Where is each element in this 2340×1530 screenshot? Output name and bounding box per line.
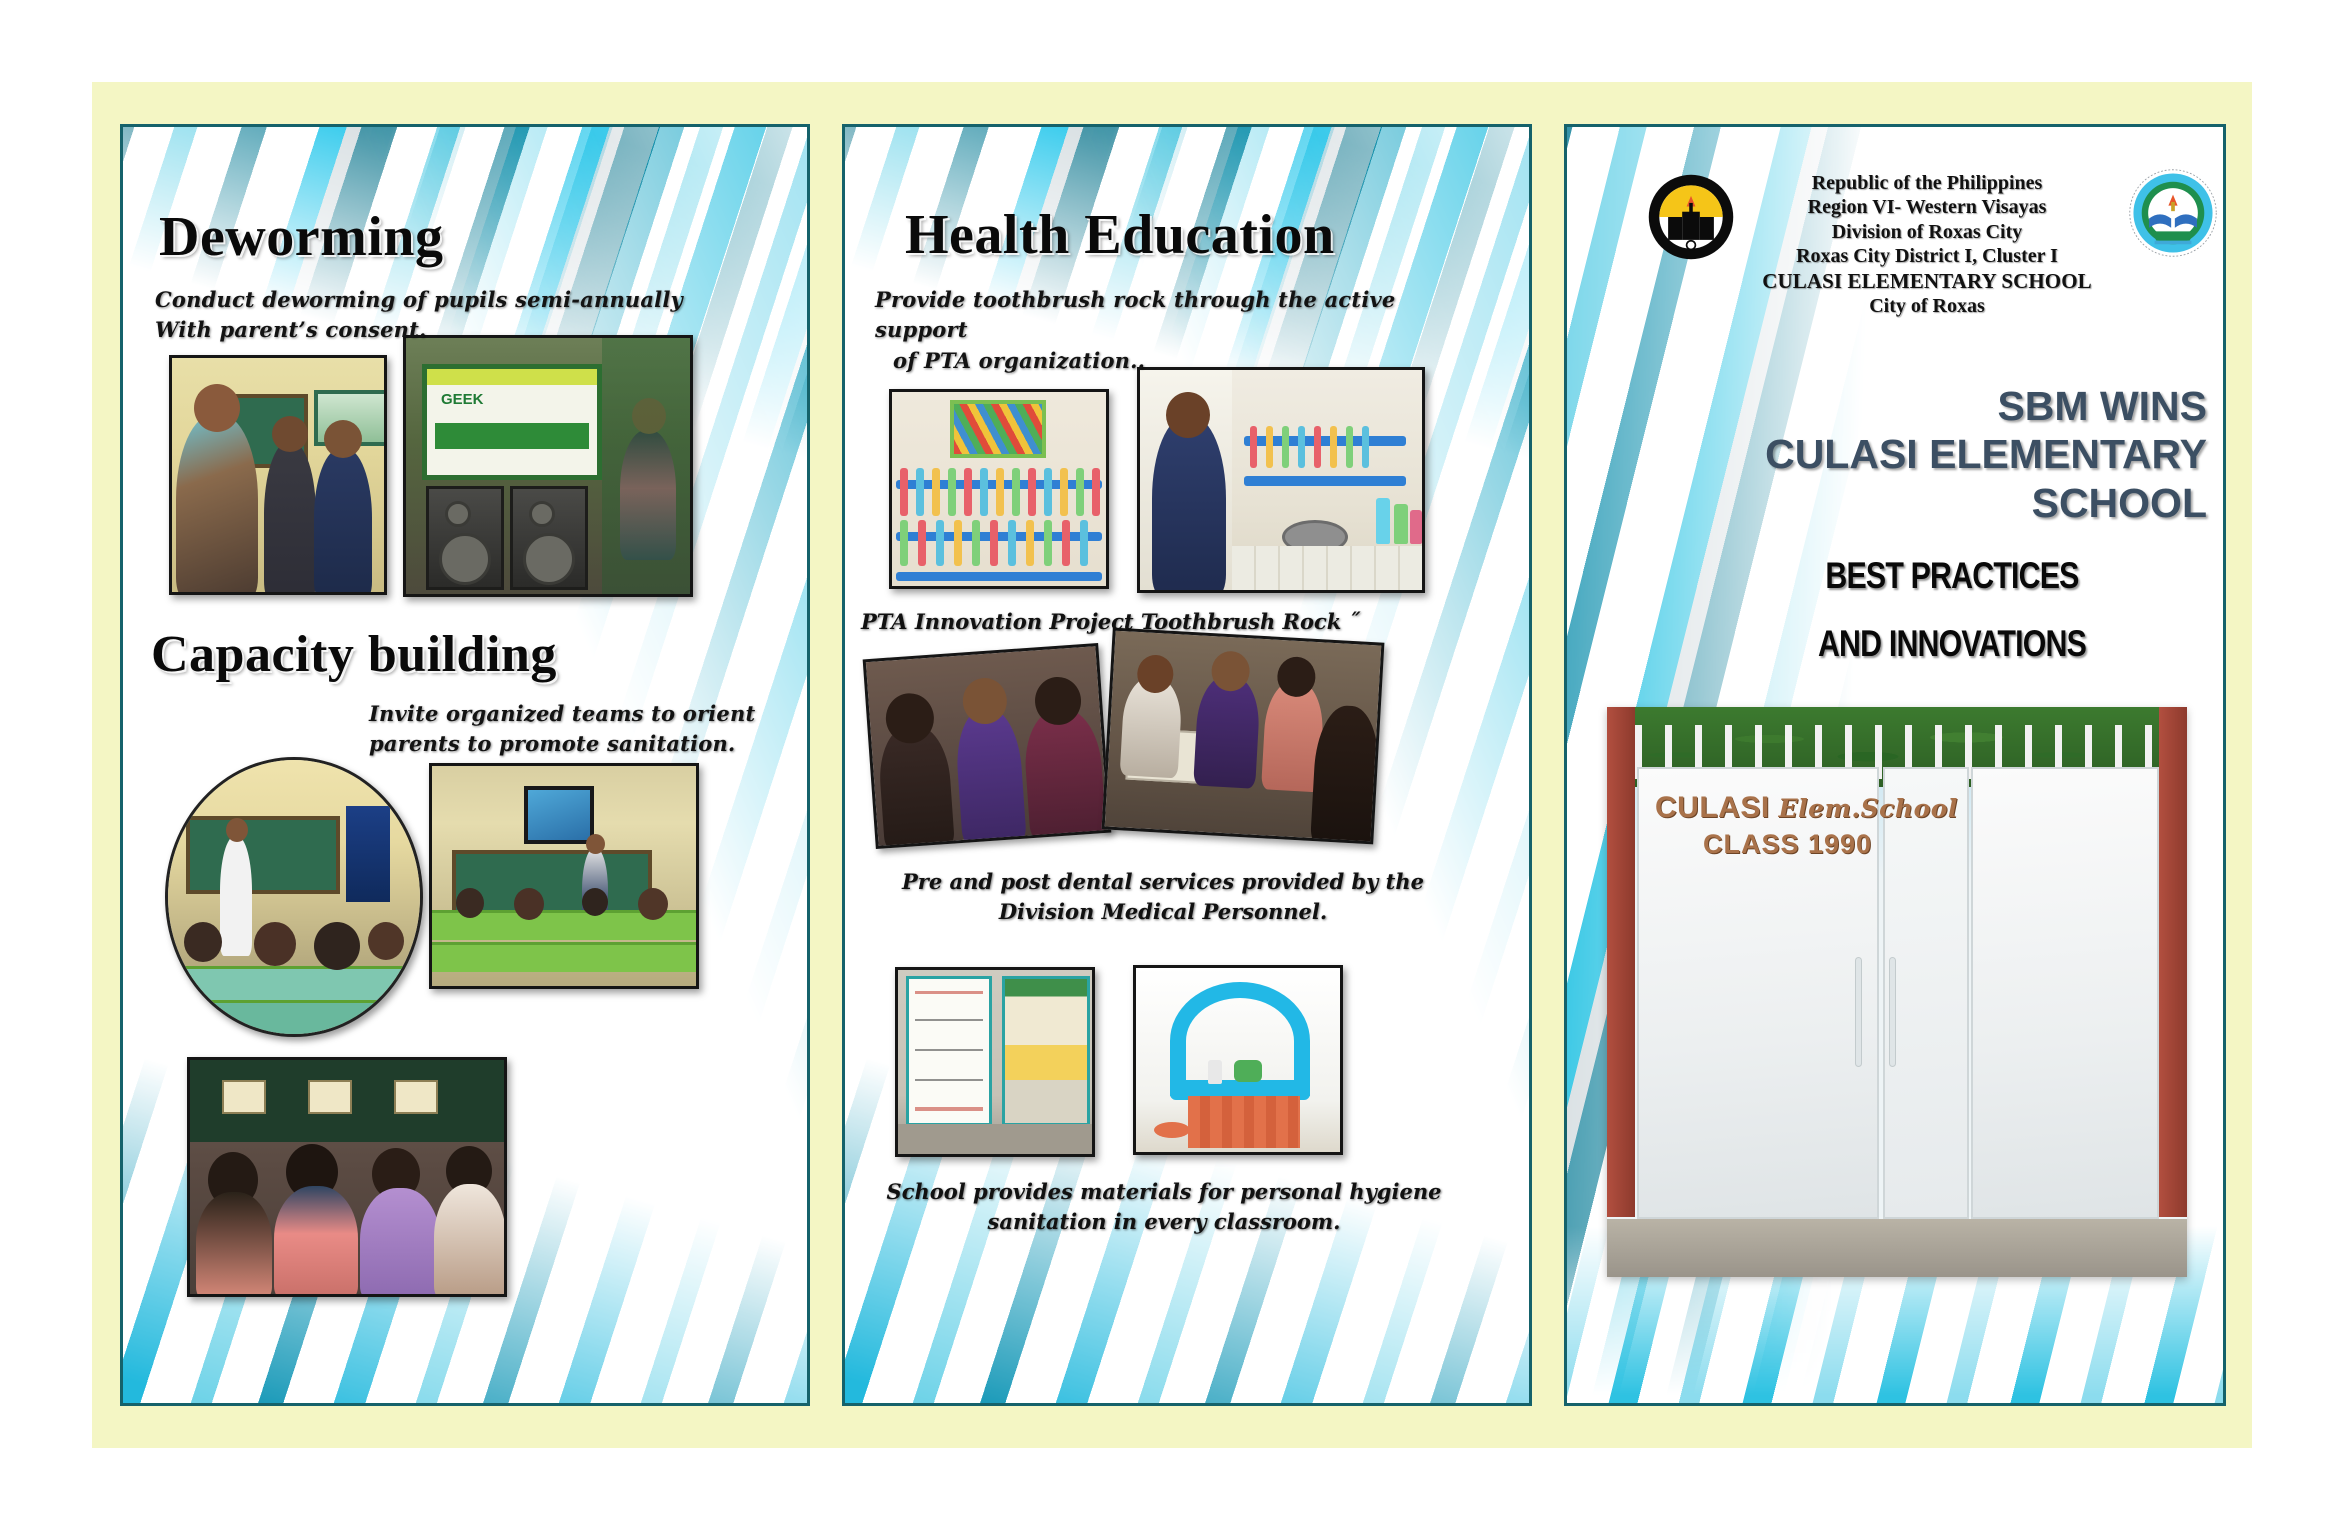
- cover-subtitle: BEST PRACTICES AND INNOVATIONS: [1759, 542, 2144, 679]
- cover-subtitle-line-1: BEST PRACTICES: [1759, 542, 2144, 610]
- photo-capacity-classroom-tv: [429, 763, 699, 989]
- header-line-4: Roxas City District I, Cluster I: [1743, 244, 2111, 268]
- photo-dental-checkup-b: [1102, 628, 1385, 845]
- division-of-roxas-city-seal: [2127, 167, 2215, 255]
- photo-school-gate: CULASI Elem.School CLASS 1990: [1607, 707, 2187, 1277]
- panel-health-education: Health Education Provide toothbrush rock…: [842, 124, 1532, 1406]
- text-deworming-body: Conduct deworming of pupils semi-annuall…: [155, 285, 755, 346]
- caption-toothbrush-rock: PTA Innovation Project Toothbrush Rock ˝: [861, 607, 1461, 637]
- caption-hygiene-materials: School provides materials for personal h…: [859, 1177, 1469, 1238]
- cover-title-line-2: CULASI ELEMENTARY: [1747, 430, 2207, 478]
- cover-title-line-1: SBM WINS: [1747, 382, 2207, 430]
- brochure-page: Deworming Conduct deworming of pupils se…: [92, 82, 2252, 1448]
- caption-dental-services: Pre and post dental services provided by…: [863, 867, 1463, 928]
- header-line-6: City of Roxas: [1743, 294, 2111, 318]
- cover-subtitle-line-2: AND INNOVATIONS: [1759, 610, 2144, 678]
- photo-washing-area: [1137, 367, 1425, 593]
- heading-deworming: Deworming: [159, 205, 443, 269]
- gate-sign-line-1: CULASI Elem.School: [1655, 791, 1958, 825]
- photo-handwash-station: [1133, 965, 1343, 1155]
- panel-deworming: Deworming Conduct deworming of pupils se…: [120, 124, 810, 1406]
- header-line-2: Region VI- Western Visayas: [1743, 195, 2111, 219]
- text-capacity-line1: Invite organized teams to orient: [369, 699, 769, 729]
- caption-dental-line2: Division Medical Personnel.: [863, 897, 1463, 927]
- text-deworming-line2: With parent’s consent.: [155, 315, 755, 345]
- text-health-line2: of PTA organization..: [875, 346, 1495, 376]
- text-capacity-body: Invite organized teams to orient parents…: [369, 699, 769, 760]
- department-of-education-seal: [1647, 173, 1735, 261]
- cover-header-block: Republic of the Philippines Region VI- W…: [1647, 167, 2207, 332]
- caption-hygiene-line1: School provides materials for personal h…: [859, 1177, 1469, 1207]
- header-line-5: CULASI ELEMENTARY SCHOOL: [1743, 269, 2111, 295]
- photo-hygiene-chart: [895, 967, 1095, 1157]
- text-health-line1: Provide toothbrush rock through the acti…: [875, 285, 1495, 346]
- photo-capacity-audience-back: [187, 1057, 507, 1297]
- panel-cover: Republic of the Philippines Region VI- W…: [1564, 124, 2226, 1406]
- cover-title-line-3: SCHOOL: [1747, 479, 2207, 527]
- gate-sign-line-2: CLASS 1990: [1703, 829, 1872, 860]
- text-capacity-line2: parents to promote sanitation.: [369, 729, 769, 759]
- caption-hygiene-line2: sanitation in every classroom.: [859, 1207, 1469, 1237]
- photo-toothbrush-rack: [889, 389, 1109, 589]
- gate-sign-school-script: Elem.School: [1779, 794, 1958, 823]
- text-deworming-line1: Conduct deworming of pupils semi-annuall…: [155, 285, 755, 315]
- heading-capacity-building: Capacity building: [151, 625, 557, 684]
- photo-deworming-nurse-pupils: [169, 355, 387, 595]
- cover-title: SBM WINS CULASI ELEMENTARY SCHOOL: [1747, 382, 2207, 527]
- heading-health-education: Health Education: [905, 203, 1335, 267]
- photo-dental-checkup-a: [863, 643, 1112, 849]
- caption-dental-line1: Pre and post dental services provided by…: [863, 867, 1463, 897]
- text-health-body: Provide toothbrush rock through the acti…: [875, 285, 1495, 376]
- header-line-1: Republic of the Philippines: [1743, 171, 2111, 195]
- photo-deworming-orientation-tarpaulin: GEEK: [403, 335, 693, 597]
- photo-capacity-seminar-oval: [165, 757, 423, 1037]
- gate-sign-school-name: CULASI: [1655, 791, 1770, 824]
- cover-header-lines: Republic of the Philippines Region VI- W…: [1743, 171, 2111, 319]
- header-line-3: Division of Roxas City: [1743, 220, 2111, 244]
